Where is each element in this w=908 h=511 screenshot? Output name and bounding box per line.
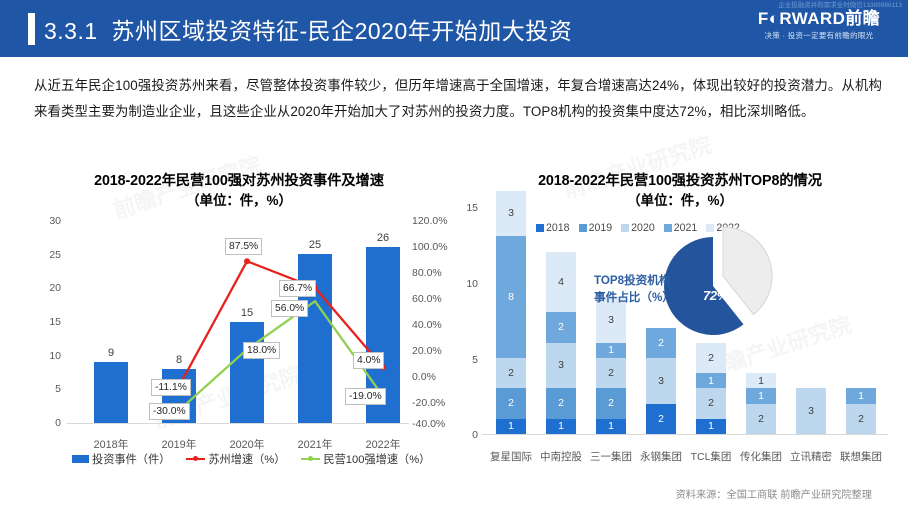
left-chart-legend: 投资事件（件） 苏州增速（%） 民营100强增速（%）	[72, 451, 452, 467]
pie-chart-caption: TOP8投资机构 事件占比（%）	[594, 272, 698, 306]
stack-seg-2021: 8	[496, 236, 526, 358]
left-chart-bar-label: 9	[91, 347, 131, 359]
left-chart-xtick-2020: 2020年	[217, 436, 277, 452]
legend-label: 民营100强增速（%）	[323, 451, 430, 467]
right-chart-ytick: 5	[452, 354, 478, 366]
left-chart-subtitle: （单位：件，%）	[24, 191, 454, 210]
legend-label: 投资事件（件）	[92, 451, 170, 467]
stack-seg-2019: 2	[846, 404, 876, 434]
stack-seg-2018: 1	[546, 419, 576, 434]
right-chart-stack-luxshare[interactable]: 3	[796, 388, 826, 434]
right-chart-stack-fosun[interactable]: 3 8 2 2 1	[496, 191, 526, 434]
left-chart-title: 2018-2022年民营100强对苏州投资事件及增速 （单位：件，%）	[24, 172, 454, 210]
stack-seg-2022: 1	[746, 373, 776, 388]
stack-seg-2020: 2	[596, 358, 626, 388]
brand-tagline: 决策 · 投资一定要有前瞻的眼光	[744, 30, 894, 41]
pie-slice-label: 72%	[703, 288, 728, 303]
stack-seg-2021: 1	[696, 373, 726, 388]
section-number: 3.3.1	[44, 18, 98, 44]
right-chart-stack-tcl[interactable]: 2 1 2 1	[696, 343, 726, 434]
right-chart-stack-sany[interactable]: 3 1 2 2 1	[596, 297, 626, 434]
left-chart-callout-top100-2019: -30.0%	[149, 403, 190, 420]
slide-header: 企业投融资并购需求全时微信13389986113 3.3.1 苏州区域投资特征-…	[0, 0, 908, 57]
stack-seg-2020: 3	[796, 388, 826, 434]
left-chart-callout-suzhou-2022: 4.0%	[353, 352, 384, 369]
header-accent-bar	[28, 13, 35, 45]
stack-seg-2019: 2	[696, 388, 726, 418]
right-chart-xtick-zhongnan: 中南控股	[533, 449, 589, 464]
left-chart: 30 25 20 15 10 5 0 120.0% 100.0% 80.0% 6…	[24, 212, 454, 477]
body-paragraph: 从近五年民企100强投资苏州来看，尽管整体投资事件较少，但历年增速高于全国增速，…	[34, 73, 882, 125]
brand-logo: F◐RWARD前瞻 决策 · 投资一定要有前瞻的眼光	[744, 9, 894, 41]
right-chart-ytick: 0	[452, 429, 478, 441]
left-chart-axis-line	[67, 423, 409, 424]
left-chart-callout-suzhou-2020: 87.5%	[225, 238, 262, 255]
left-chart-callout-suzhou-2019: -11.1%	[151, 379, 191, 396]
source-note: 资料来源：全国工商联 前瞻产业研究院整理	[676, 486, 872, 501]
legend-line-icon	[186, 455, 205, 463]
right-chart-axis-line	[482, 434, 888, 435]
right-chart-xtick-tcl: TCL集团	[683, 449, 739, 464]
stack-seg-2019: 2	[596, 388, 626, 418]
page-title: 3.3.1 苏州区域投资特征-民企2020年开始加大投资	[44, 12, 572, 46]
stack-seg-2020: 2	[496, 358, 526, 388]
left-chart-callout-suzhou-2021: 66.7%	[279, 280, 316, 297]
left-chart-bar-label: 26	[363, 232, 403, 244]
right-chart-title-main: 2018-2022年民营100强投资苏州TOP8的情况	[538, 173, 822, 189]
stack-seg-2022: 4	[546, 252, 576, 313]
stack-seg-2018: 1	[596, 419, 626, 434]
right-chart-ytick: 15	[452, 202, 478, 214]
pie-caption-line1: TOP8投资机构	[594, 272, 698, 289]
right-chart-xtick-yonggang: 永钢集团	[633, 449, 689, 464]
left-chart-ytick: 10	[24, 350, 61, 362]
stack-seg-2022: 3	[496, 191, 526, 237]
left-chart-plot: 9 8 15 25 26 -11.1% -30.0% 87.5% 18.0% 6…	[67, 220, 409, 423]
stack-seg-2019: 2	[496, 388, 526, 418]
legend-line-icon	[301, 455, 320, 463]
right-chart-stack-zhongnan[interactable]: 4 2 3 2 1	[546, 252, 576, 434]
right-chart: 15 10 5 0 2018 2019 2020 2021	[452, 196, 908, 466]
left-chart-callout-top100-2021: 56.0%	[271, 300, 308, 317]
right-chart-ytick: 10	[452, 278, 478, 290]
left-chart-xtick-2021: 2021年	[285, 436, 345, 452]
left-chart-xtick-2018: 2018年	[81, 436, 141, 452]
pie-slice-other[interactable]	[723, 227, 772, 314]
right-chart-stack-lenovo[interactable]: 1 2	[846, 388, 876, 434]
pie-caption-line2: 事件占比（%）	[594, 289, 698, 306]
left-chart-bar-label: 25	[295, 239, 335, 251]
left-chart-xtick-2022: 2022年	[353, 436, 413, 452]
legend-swatch-icon	[72, 455, 89, 463]
right-chart-xtick-sany: 三一集团	[583, 449, 639, 464]
left-chart-ytick: 25	[24, 249, 61, 261]
legend-item-investment-events[interactable]: 投资事件（件）	[72, 451, 170, 467]
stack-seg-2019: 2	[746, 404, 776, 434]
stack-seg-2020: 3	[646, 358, 676, 404]
stack-seg-2021: 2	[546, 312, 576, 342]
stack-seg-2018: 1	[496, 419, 526, 434]
stack-seg-2021: 1	[746, 388, 776, 403]
left-chart-xtick-2019: 2019年	[149, 436, 209, 452]
left-chart-point	[244, 258, 250, 264]
section-title: 苏州区域投资特征-民企2020年开始加大投资	[111, 18, 572, 44]
left-chart-bar-label: 15	[227, 307, 267, 319]
stack-seg-2022: 2	[696, 343, 726, 373]
left-chart-ytick: 30	[24, 215, 61, 227]
legend-label: 苏州增速（%）	[208, 451, 285, 467]
left-chart-ytick: 15	[24, 316, 61, 328]
stack-seg-2021: 1	[596, 343, 626, 358]
stack-seg-2018: 2	[646, 404, 676, 434]
right-chart-xtick-chuanhua: 传化集团	[733, 449, 789, 464]
right-chart-xtick-lenovo: 联想集团	[833, 449, 889, 464]
left-chart-bar-label: 8	[159, 354, 199, 366]
right-chart-xtick-fosun: 复星国际	[483, 449, 539, 464]
right-chart-xtick-luxshare: 立讯精密	[783, 449, 839, 464]
brand-name: F◐RWARD前瞻	[744, 9, 894, 29]
legend-item-suzhou-growth[interactable]: 苏州增速（%）	[186, 451, 285, 467]
left-chart-ytick: 20	[24, 282, 61, 294]
slide: 企业投融资并购需求全时微信13389986113 3.3.1 苏州区域投资特征-…	[0, 0, 908, 511]
stack-seg-2020: 3	[546, 343, 576, 389]
left-chart-ytick: 5	[24, 383, 61, 395]
right-chart-stack-chuanhua[interactable]: 1 1 2	[746, 373, 776, 434]
left-chart-ytick: 0	[24, 417, 61, 429]
stack-seg-2021: 1	[846, 388, 876, 403]
legend-item-top100-growth[interactable]: 民营100强增速（%）	[301, 451, 430, 467]
stack-seg-2019: 2	[546, 388, 576, 418]
left-chart-title-main: 2018-2022年民营100强对苏州投资事件及增速	[94, 173, 384, 189]
stack-seg-2018: 1	[696, 419, 726, 434]
left-chart-callout-top100-2020: 18.0%	[243, 342, 280, 359]
header-micro-text: 企业投融资并购需求全时微信13389986113	[778, 0, 902, 9]
left-chart-callout-top100-2022: -19.0%	[345, 388, 386, 405]
